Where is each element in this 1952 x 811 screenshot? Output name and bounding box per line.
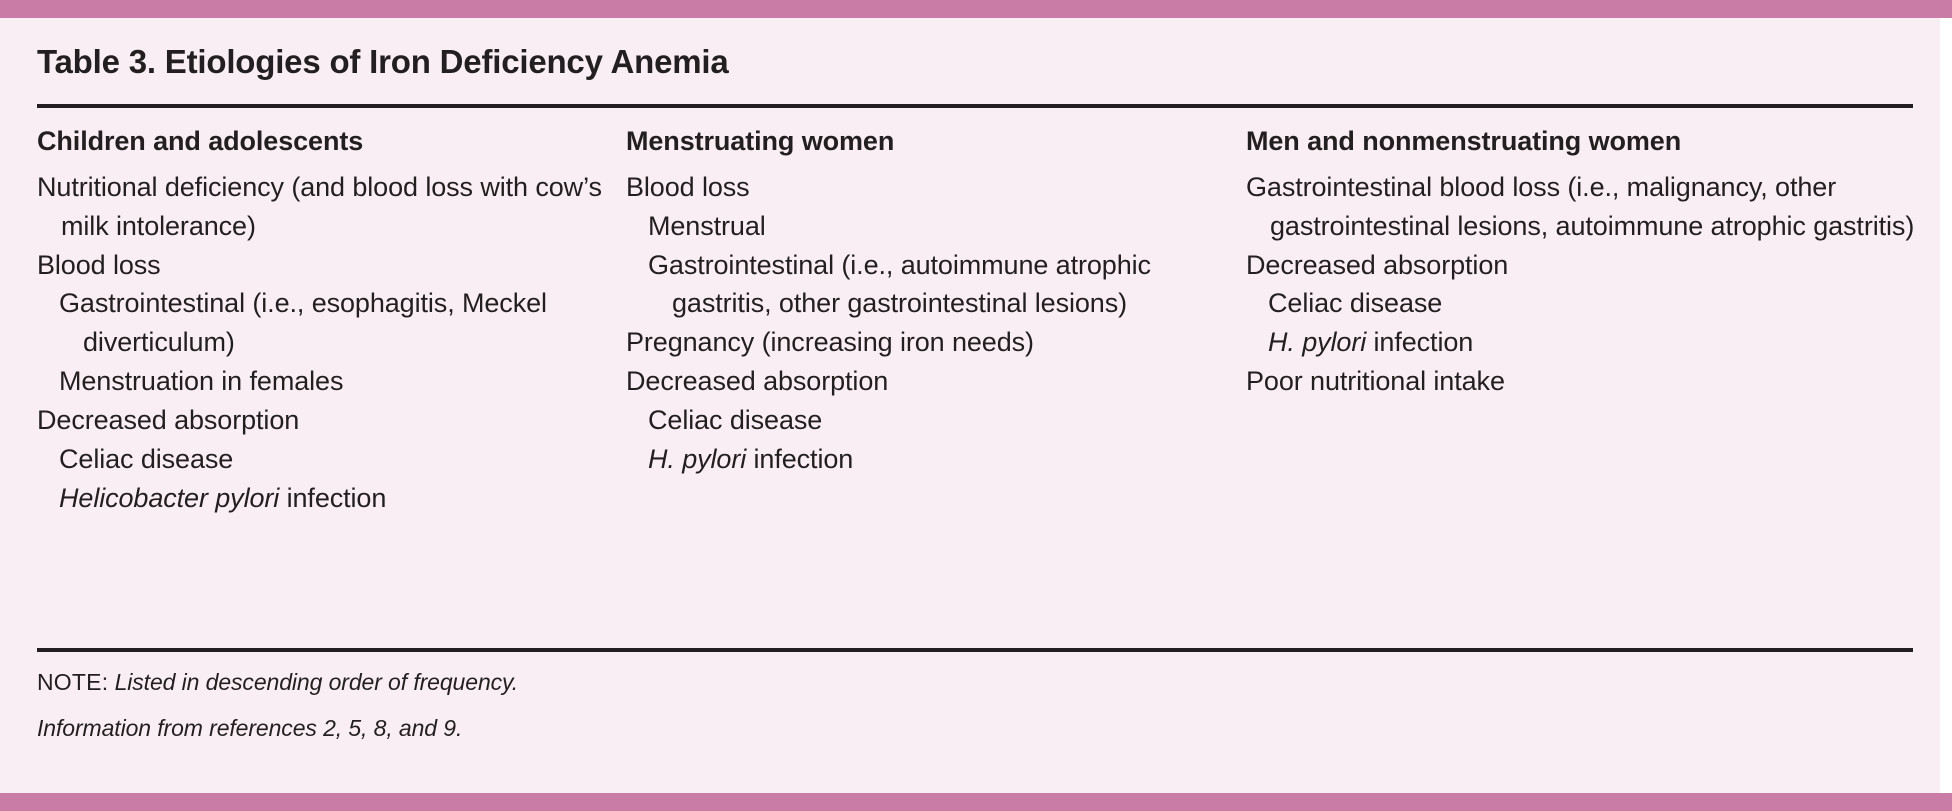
information-line: Information from references 2, 5, 8, and… bbox=[37, 714, 1913, 744]
list-item: Gastrointestinal blood loss (i.e., malig… bbox=[1246, 168, 1940, 246]
footer-divider-rule bbox=[37, 648, 1913, 652]
italic-species-name: H. pylori bbox=[1268, 327, 1366, 357]
list-item: Gastrointestinal (i.e., autoimmune atrop… bbox=[626, 246, 1233, 324]
list-item: Poor nutritional intake bbox=[1246, 362, 1940, 401]
note-label: NOTE: bbox=[37, 669, 108, 695]
italic-species-name: H. pylori bbox=[648, 444, 746, 474]
list-item: Nutritional deficiency (and blood loss w… bbox=[37, 168, 613, 246]
list-item: H. pylori infection bbox=[626, 440, 1233, 479]
table-columns: Children and adolescentsNutritional defi… bbox=[0, 126, 1940, 518]
list-item: Menstruation in females bbox=[37, 362, 613, 401]
table-figure: Table 3. Etiologies of Iron Deficiency A… bbox=[0, 0, 1952, 811]
list-item: Decreased absorption bbox=[37, 401, 613, 440]
bottom-accent-bar bbox=[0, 793, 1952, 811]
column-heading: Menstruating women bbox=[626, 126, 1233, 158]
list-item: Celiac disease bbox=[1246, 284, 1940, 323]
table-body: Table 3. Etiologies of Iron Deficiency A… bbox=[0, 18, 1940, 793]
header-divider-rule bbox=[37, 104, 1913, 108]
list-item: Helicobacter pylori infection bbox=[37, 479, 613, 518]
list-item: Menstrual bbox=[626, 207, 1233, 246]
italic-species-name: Helicobacter pylori bbox=[59, 483, 279, 513]
list-item: Celiac disease bbox=[626, 401, 1233, 440]
list-item: Celiac disease bbox=[37, 440, 613, 479]
list-item: Decreased absorption bbox=[1246, 246, 1940, 285]
list-item: Gastrointestinal (i.e., esophagitis, Mec… bbox=[37, 284, 613, 362]
list-item: Blood loss bbox=[37, 246, 613, 285]
column-heading: Children and adolescents bbox=[37, 126, 613, 158]
column-heading: Men and nonmenstruating women bbox=[1246, 126, 1940, 158]
list-item: Pregnancy (increasing iron needs) bbox=[626, 323, 1233, 362]
page-title: Table 3. Etiologies of Iron Deficiency A… bbox=[37, 43, 729, 81]
list-item-text: infection bbox=[279, 483, 386, 513]
list-item: H. pylori infection bbox=[1246, 323, 1940, 362]
top-accent-bar bbox=[0, 0, 1952, 18]
list-item-text: infection bbox=[1366, 327, 1473, 357]
note-line: NOTE: Listed in descending order of freq… bbox=[37, 668, 1913, 698]
list-item: Blood loss bbox=[626, 168, 1233, 207]
list-item: Decreased absorption bbox=[626, 362, 1233, 401]
note-text: Listed in descending order of frequency. bbox=[115, 669, 518, 695]
footnotes: NOTE: Listed in descending order of freq… bbox=[37, 668, 1913, 760]
table-column-1: Children and adolescentsNutritional defi… bbox=[0, 126, 613, 518]
table-column-3: Men and nonmenstruating womenGastrointes… bbox=[1233, 126, 1940, 518]
list-item-text: infection bbox=[746, 444, 853, 474]
table-column-2: Menstruating womenBlood lossMenstrualGas… bbox=[613, 126, 1233, 518]
